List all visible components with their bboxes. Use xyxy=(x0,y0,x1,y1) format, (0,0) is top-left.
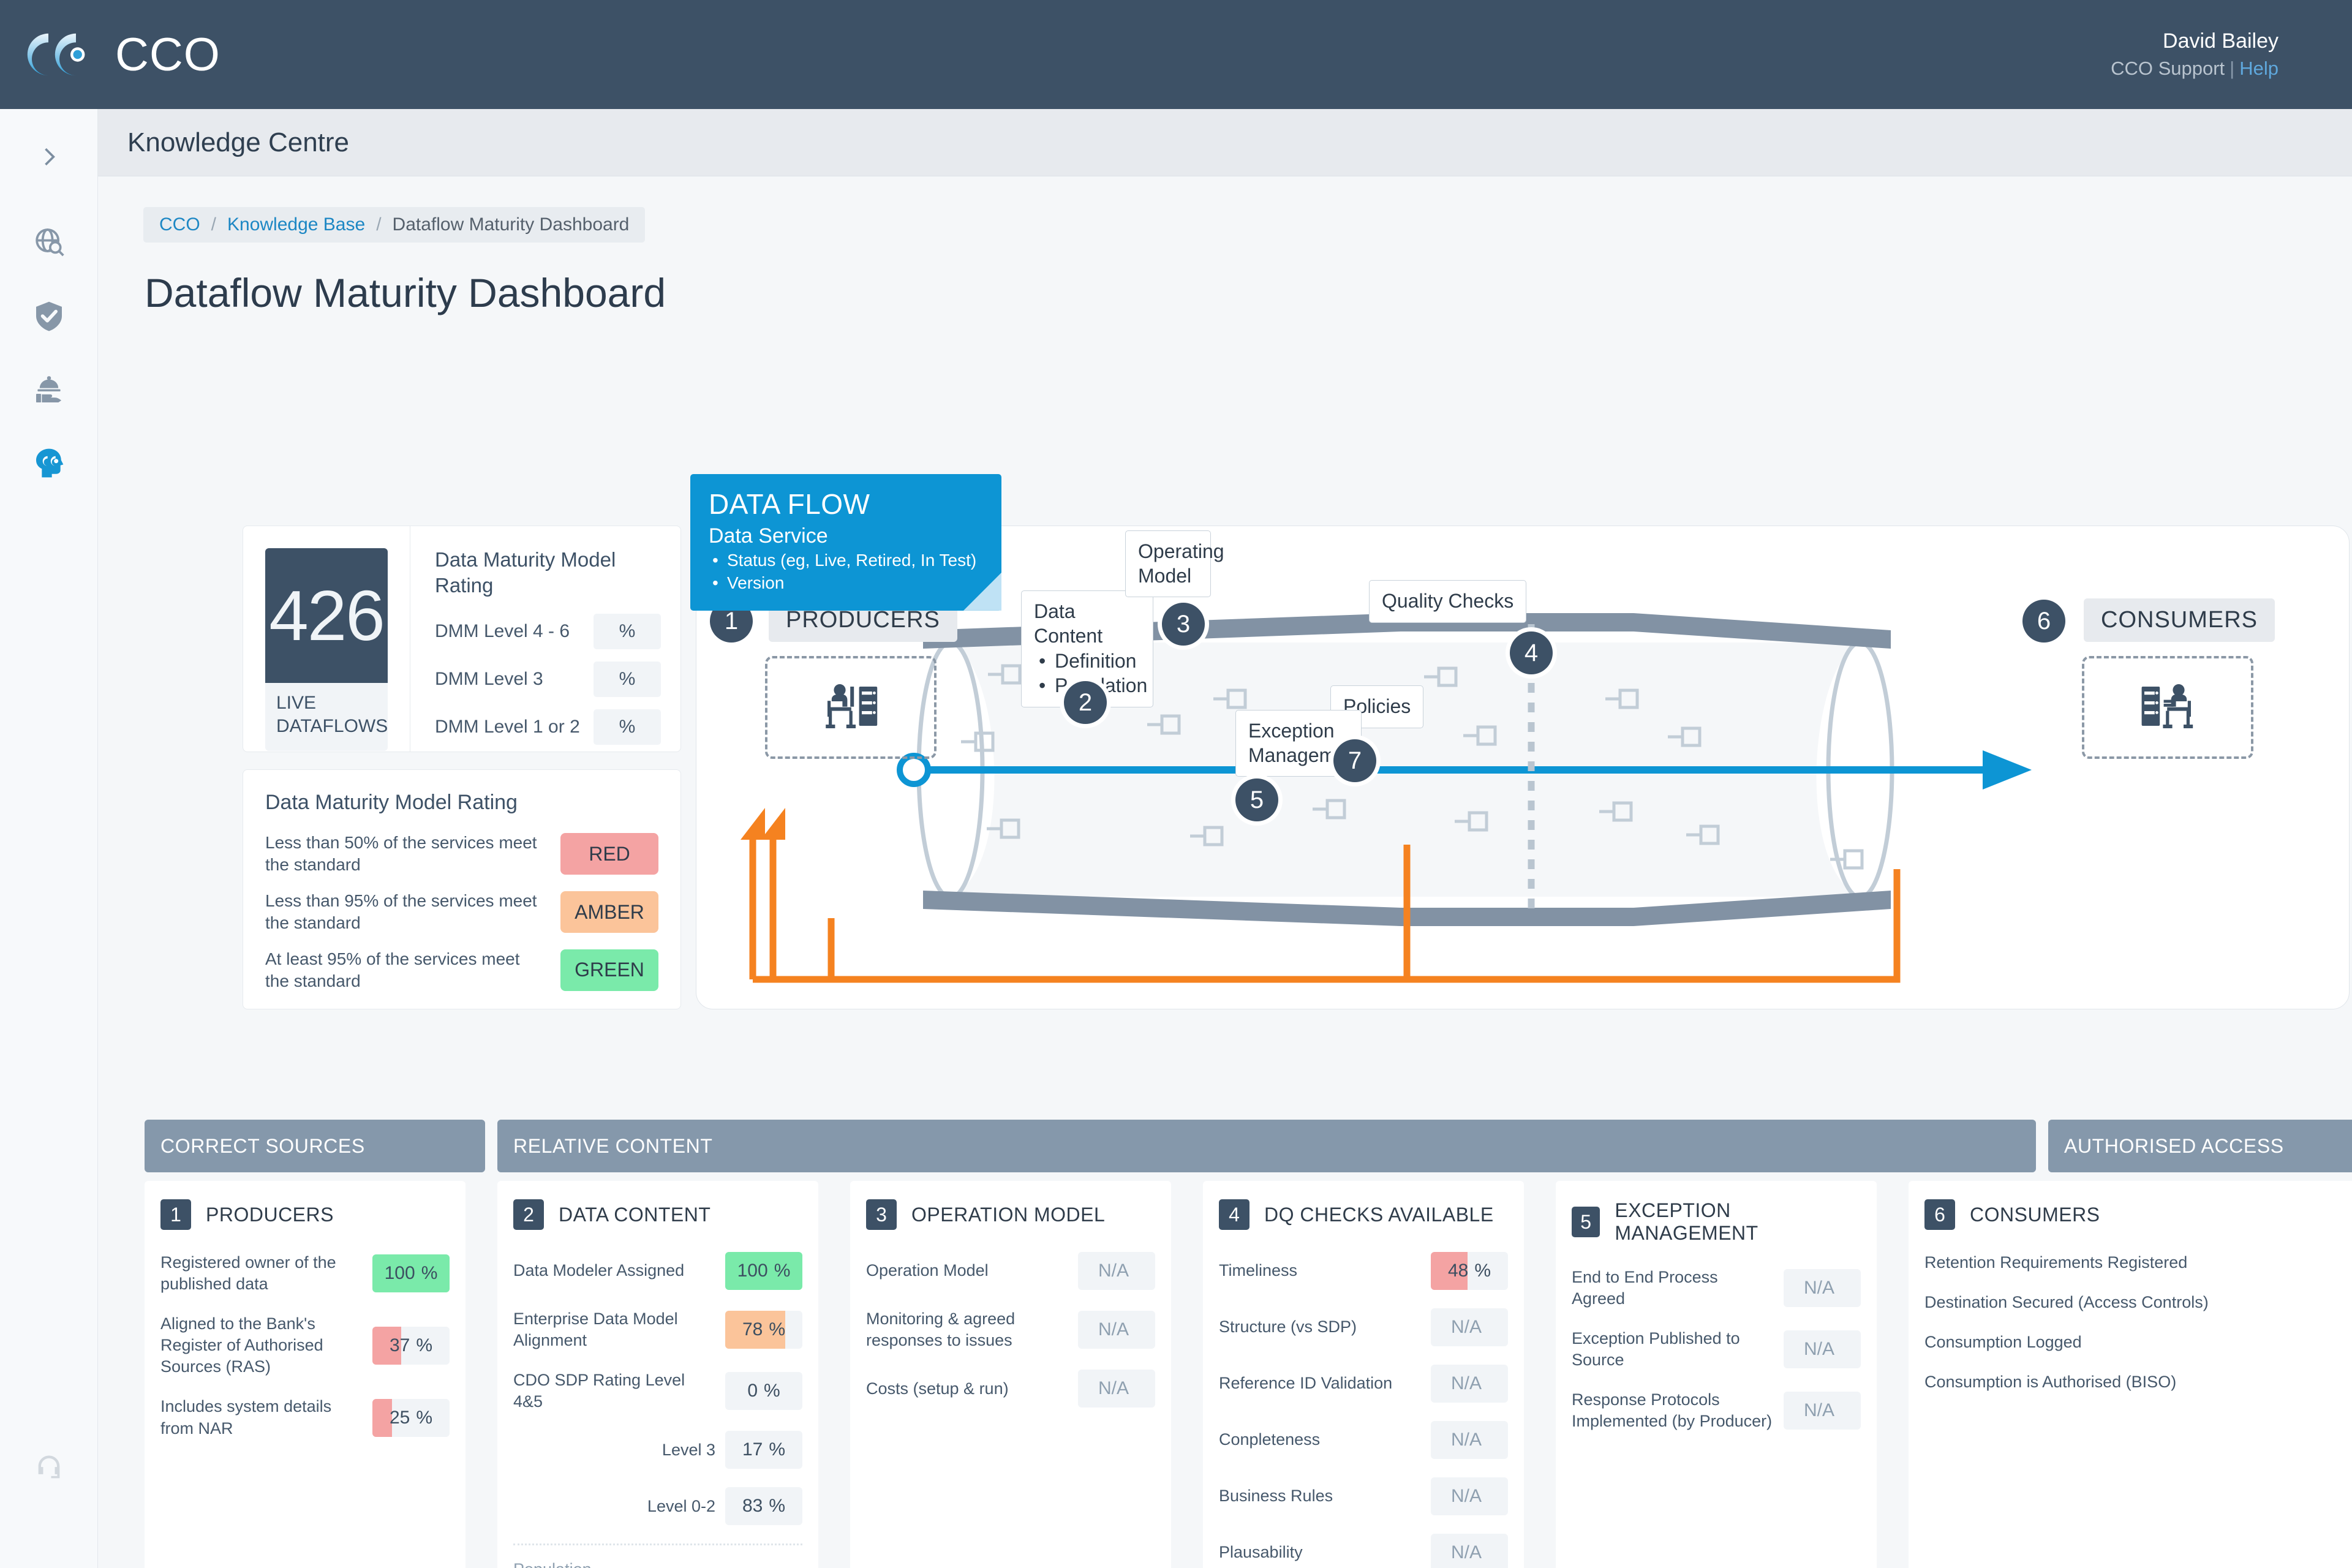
metric-label: Data Modeler Assigned xyxy=(513,1260,715,1281)
metric-row: Registered owner of the published data 1… xyxy=(160,1252,450,1295)
metric-row: Level 0-2 83% xyxy=(513,1487,802,1525)
callout-title: DATA FLOW xyxy=(709,488,983,521)
metric-row: CDO SDP Rating Level 4&5 0% xyxy=(513,1370,802,1412)
metric-pill: N/A xyxy=(1078,1252,1155,1290)
panel-number: 6 xyxy=(1924,1199,1955,1230)
metric-value: 25 xyxy=(390,1408,410,1428)
metric-panels: 1 PRODUCERS Registered owner of the publ… xyxy=(145,1181,2352,1568)
upper-row: 426 LIVE DATAFLOWS Data Maturity Model R… xyxy=(145,519,2350,1009)
panel-data-content: 2 DATA CONTENT Data Modeler Assigned 100… xyxy=(497,1181,818,1568)
metric-pill: 78% xyxy=(725,1311,802,1349)
panel-title: DQ CHECKS AVAILABLE xyxy=(1264,1204,1494,1226)
metric-row: Consumption is Authorised (BISO) xyxy=(1924,1371,2352,1393)
section-bar-correct-sources: CORRECT SOURCES xyxy=(145,1120,485,1172)
metric-value: 0 xyxy=(747,1381,758,1401)
brand[interactable]: CCO xyxy=(21,27,221,82)
panel-number: 5 xyxy=(1572,1207,1600,1237)
panel-divider xyxy=(513,1543,802,1545)
metric-pill: N/A xyxy=(1784,1330,1861,1368)
dmm-label: DMM Level 4 - 6 xyxy=(435,621,570,642)
metric-row: Conpleteness N/A xyxy=(1219,1421,1508,1459)
metric-row: Plausability N/A xyxy=(1219,1534,1508,1568)
metric-pill: N/A xyxy=(1784,1269,1861,1307)
dataflow-diagram: DATA FLOW Data Service Status (eg, Live,… xyxy=(696,526,2350,1009)
diagram-badge-5[interactable]: 5 xyxy=(1235,778,1278,821)
panel-title: CONSUMERS xyxy=(1970,1204,2100,1226)
server-rack-icon xyxy=(2138,677,2197,739)
metric-unit: % xyxy=(416,1408,432,1428)
metric-value: N/A xyxy=(1804,1400,1834,1421)
metric-row: Data Modeler Assigned 100% xyxy=(513,1252,802,1290)
metric-value: 100 xyxy=(385,1263,415,1284)
metric-label: Consumption is Authorised (BISO) xyxy=(1924,1371,2352,1393)
metric-row: Operation Model N/A xyxy=(866,1252,1155,1290)
sections: CORRECT SOURCES RELATIVE CONTENT AUTHORI… xyxy=(145,1120,2352,1568)
metric-pill: N/A xyxy=(1431,1534,1508,1568)
metric-label: Response Protocols Implemented (by Produ… xyxy=(1572,1389,1774,1432)
sidebar-item-discover[interactable] xyxy=(0,207,98,281)
metric-label: Costs (setup & run) xyxy=(866,1378,1068,1400)
metric-unit: % xyxy=(416,1335,432,1356)
panel-exception-management: 5 EXCEPTION MANAGEMENT End to End Proces… xyxy=(1556,1181,1877,1568)
metric-value: 17 xyxy=(742,1439,763,1460)
separator: | xyxy=(2225,58,2239,79)
metric-row: Structure (vs SDP) N/A xyxy=(1219,1308,1508,1346)
live-dataflows-value-box: 426 xyxy=(265,548,388,683)
chevron-right-icon xyxy=(36,143,62,173)
status-badge-amber: AMBER xyxy=(560,891,658,933)
metric-label: Enterprise Data Model Alignment xyxy=(513,1308,715,1351)
metric-value: N/A xyxy=(1451,1486,1482,1507)
metric-pill: 100% xyxy=(725,1252,802,1290)
dmm-row: DMM Level 1 or 2 % xyxy=(435,709,661,745)
breadcrumb-separator: / xyxy=(200,214,227,235)
metric-unit: % xyxy=(421,1263,438,1284)
panel-producers: 1 PRODUCERS Registered owner of the publ… xyxy=(145,1181,466,1568)
sidebar-expand-button[interactable] xyxy=(0,109,98,207)
breadcrumb: CCO / Knowledge Base / Dataflow Maturity… xyxy=(143,207,645,243)
metric-row: Level 3 17% xyxy=(513,1431,802,1469)
service-tray-icon xyxy=(32,372,66,410)
metric-label: Timeliness xyxy=(1219,1260,1421,1281)
metric-pill: 37% xyxy=(372,1327,450,1365)
panel-title: OPERATION MODEL xyxy=(911,1204,1105,1226)
diagram-badge-6[interactable]: 6 xyxy=(2022,600,2065,643)
section-bars: CORRECT SOURCES RELATIVE CONTENT AUTHORI… xyxy=(145,1120,2352,1172)
metric-row: Enterprise Data Model Alignment 78% xyxy=(513,1308,802,1351)
shield-check-icon xyxy=(32,299,66,336)
metric-row: Exception Published to Source N/A xyxy=(1572,1328,1861,1371)
metric-pill: 100% xyxy=(372,1254,450,1292)
legend-text: Less than 50% of the services meet the s… xyxy=(265,832,547,876)
legend-row: At least 95% of the services meet the st… xyxy=(265,948,658,993)
metric-pill: N/A xyxy=(1078,1370,1155,1408)
brand-name: CCO xyxy=(115,28,221,81)
metric-row: Costs (setup & run) N/A xyxy=(866,1370,1155,1408)
metric-label: Level 3 xyxy=(513,1439,715,1461)
consumers-chip: CONSUMERS xyxy=(2084,598,2275,642)
metric-label: Conpleteness xyxy=(1219,1429,1421,1450)
sidebar-item-services[interactable] xyxy=(0,354,98,428)
metric-pill: 17% xyxy=(725,1431,802,1469)
metric-unit: % xyxy=(774,1261,791,1281)
metric-row: Destination Secured (Access Controls) xyxy=(1924,1292,2352,1313)
metric-label: Destination Secured (Access Controls) xyxy=(1924,1292,2352,1313)
metric-value: N/A xyxy=(1098,1378,1129,1399)
metric-pill: 25% xyxy=(372,1399,450,1437)
metric-value: N/A xyxy=(1098,1261,1129,1281)
live-dataflows-label: LIVE DATAFLOWS xyxy=(265,683,388,751)
knowledge-centre-title: Knowledge Centre xyxy=(127,127,349,158)
metric-pill: N/A xyxy=(1078,1311,1155,1349)
dmm-value: % xyxy=(594,661,661,697)
breadcrumb-item-cco[interactable]: CCO xyxy=(159,214,200,235)
metric-pill: N/A xyxy=(1431,1365,1508,1403)
breadcrumb-separator: / xyxy=(365,214,392,235)
sidebar-item-cco[interactable] xyxy=(0,428,98,501)
panel-title: EXCEPTION MANAGEMENT xyxy=(1615,1199,1861,1245)
app-header: CCO David Bailey CCO Support|Help xyxy=(0,0,2352,109)
diagram-badge-3[interactable]: 3 xyxy=(1162,603,1205,646)
breadcrumb-item-knowledge-base[interactable]: Knowledge Base xyxy=(227,214,365,235)
metric-label: Aligned to the Bank's Register of Author… xyxy=(160,1313,363,1378)
consumers-actor-box xyxy=(2082,656,2253,759)
panel-consumers: 6 CONSUMERS Retention Requirements Regis… xyxy=(1909,1181,2352,1568)
metric-unit: % xyxy=(769,1496,785,1517)
legend-text: At least 95% of the services meet the st… xyxy=(265,948,547,993)
metric-label: Exception Published to Source xyxy=(1572,1328,1774,1371)
panel-operation-model: 3 OPERATION MODEL Operation Model N/A Mo… xyxy=(850,1181,1171,1568)
metric-value: 100 xyxy=(737,1261,768,1281)
diagram-badge-2[interactable]: 2 xyxy=(1064,681,1107,724)
panel-title: DATA CONTENT xyxy=(559,1204,710,1226)
metric-pill: 0% xyxy=(725,1372,802,1410)
metric-value: N/A xyxy=(1098,1319,1129,1340)
metric-label: Level 0-2 xyxy=(513,1496,715,1517)
panel-title: PRODUCERS xyxy=(206,1204,334,1226)
rating-legend-title: Data Maturity Model Rating xyxy=(265,791,658,815)
metric-pill: N/A xyxy=(1431,1308,1508,1346)
metric-label: Structure (vs SDP) xyxy=(1219,1316,1421,1338)
dmm-row: DMM Level 3 % xyxy=(435,661,661,697)
metric-value: 78 xyxy=(742,1319,763,1340)
metric-value: N/A xyxy=(1804,1339,1834,1360)
legend-row: Less than 50% of the services meet the s… xyxy=(265,832,658,876)
cco-head-icon xyxy=(32,446,66,483)
metric-value: N/A xyxy=(1451,1317,1482,1338)
producers-actor-box xyxy=(765,656,937,759)
help-link[interactable]: Help xyxy=(2239,58,2278,79)
legend-row: Less than 95% of the services meet the s… xyxy=(265,890,658,935)
support-label: CCO Support xyxy=(2111,58,2225,79)
legend-text: Less than 95% of the services meet the s… xyxy=(265,890,547,935)
page-section-header: Knowledge Centre xyxy=(98,109,2352,176)
metric-row: Aligned to the Bank's Register of Author… xyxy=(160,1313,450,1378)
metric-value: N/A xyxy=(1451,1542,1482,1563)
rating-legend-card: Data Maturity Model Rating Less than 50%… xyxy=(243,769,681,1009)
kpi-card: 426 LIVE DATAFLOWS Data Maturity Model R… xyxy=(243,526,681,752)
metric-row: Response Protocols Implemented (by Produ… xyxy=(1572,1389,1861,1432)
headset-icon xyxy=(33,1452,65,1487)
metric-unit: % xyxy=(769,1319,785,1340)
person-at-desk-icon xyxy=(821,677,880,739)
sidebar-item-assurance[interactable] xyxy=(0,281,98,354)
panel-number: 4 xyxy=(1219,1199,1249,1230)
metric-value: N/A xyxy=(1451,1430,1482,1450)
dmm-rating-block: Data Maturity Model Rating DMM Level 4 -… xyxy=(410,526,680,752)
dataflow-callout: DATA FLOW Data Service Status (eg, Live,… xyxy=(690,474,1001,611)
sidebar-rail xyxy=(0,109,98,1568)
metric-row: Timeliness 48% xyxy=(1219,1252,1508,1290)
globe-search-icon xyxy=(32,225,66,263)
user-name: David Bailey xyxy=(2111,28,2278,56)
dmm-label: DMM Level 1 or 2 xyxy=(435,717,580,737)
live-dataflows-tile: 426 LIVE DATAFLOWS xyxy=(243,526,410,752)
metric-value: 83 xyxy=(742,1496,763,1517)
section-bar-authorised-access: AUTHORISED ACCESS xyxy=(2048,1120,2352,1172)
status-badge-red: RED xyxy=(560,833,658,875)
sidebar-item-support[interactable] xyxy=(0,1452,98,1568)
callout-subtitle: Data Service xyxy=(709,524,983,548)
metric-label: Includes system details from NAR xyxy=(160,1396,363,1439)
metric-row: Consumption Logged xyxy=(1924,1332,2352,1353)
metric-label: Plausability xyxy=(1219,1542,1421,1563)
panel-number: 2 xyxy=(513,1199,544,1230)
metric-pill: N/A xyxy=(1431,1477,1508,1515)
metric-label: Consumption Logged xyxy=(1924,1332,2352,1353)
metric-label: Operation Model xyxy=(866,1260,1068,1281)
metric-label: Registered owner of the published data xyxy=(160,1252,363,1295)
diagram-badge-7[interactable]: 7 xyxy=(1333,739,1376,782)
metric-value: N/A xyxy=(1451,1373,1482,1394)
metric-row: Business Rules N/A xyxy=(1219,1477,1508,1515)
metric-row: Includes system details from NAR 25% xyxy=(160,1396,450,1439)
metric-label: Reference ID Validation xyxy=(1219,1373,1421,1394)
dmm-row: DMM Level 4 - 6 % xyxy=(435,614,661,649)
metric-unit: % xyxy=(1474,1261,1491,1281)
metric-unit: % xyxy=(769,1439,785,1460)
breadcrumb-item-current: Dataflow Maturity Dashboard xyxy=(393,214,630,235)
metric-row: Reference ID Validation N/A xyxy=(1219,1365,1508,1403)
metric-pill: N/A xyxy=(1784,1392,1861,1430)
metric-value: 48 xyxy=(1448,1261,1468,1281)
data-content-title: Data Content xyxy=(1034,600,1140,648)
metric-label: Retention Requirements Registered xyxy=(1924,1252,2352,1273)
metric-label: CDO SDP Rating Level 4&5 xyxy=(513,1370,715,1412)
dmm-value: % xyxy=(594,614,661,649)
metric-pill: 48% xyxy=(1431,1252,1508,1290)
cco-logo-icon xyxy=(21,27,98,82)
panel-dq-checks: 4 DQ CHECKS AVAILABLE Timeliness 48% Str… xyxy=(1203,1181,1524,1568)
diagram-badge-4[interactable]: 4 xyxy=(1510,631,1553,674)
section-bar-relative-content: RELATIVE CONTENT xyxy=(497,1120,2036,1172)
dmm-value: % xyxy=(594,709,661,745)
dmm-rating-title: Data Maturity Model Rating xyxy=(435,547,661,598)
quality-checks-label: Quality Checks xyxy=(1369,580,1526,623)
metric-label: End to End Process Agreed xyxy=(1572,1267,1774,1310)
user-block: David Bailey CCO Support|Help xyxy=(2111,28,2315,81)
main-content: CCO / Knowledge Base / Dataflow Maturity… xyxy=(98,176,2352,1568)
metric-row: End to End Process Agreed N/A xyxy=(1572,1267,1861,1310)
metric-value: N/A xyxy=(1804,1278,1834,1298)
metric-label: Monitoring & agreed responses to issues xyxy=(866,1308,1068,1351)
data-content-bullet: Definition xyxy=(1034,649,1140,674)
panel-subheading: Population xyxy=(513,1560,802,1568)
metric-row: Retention Requirements Registered xyxy=(1924,1252,2352,1273)
panel-number: 3 xyxy=(866,1199,897,1230)
page-title: Dataflow Maturity Dashboard xyxy=(145,269,2352,316)
metric-row: Monitoring & agreed responses to issues … xyxy=(866,1308,1155,1351)
metric-label: Business Rules xyxy=(1219,1485,1421,1507)
metric-pill: N/A xyxy=(1431,1421,1508,1459)
operating-model-label: Operating Model xyxy=(1125,530,1211,597)
callout-bullet: Status (eg, Live, Retired, In Test) xyxy=(709,549,983,572)
metric-pill: 83% xyxy=(725,1487,802,1525)
live-dataflows-count: 426 xyxy=(269,575,384,657)
metric-value: 37 xyxy=(390,1335,410,1356)
status-badge-green: GREEN xyxy=(560,949,658,991)
dmm-label: DMM Level 3 xyxy=(435,669,543,690)
panel-number: 1 xyxy=(160,1199,191,1230)
callout-bullet: Version xyxy=(709,572,983,595)
metric-unit: % xyxy=(764,1381,780,1401)
